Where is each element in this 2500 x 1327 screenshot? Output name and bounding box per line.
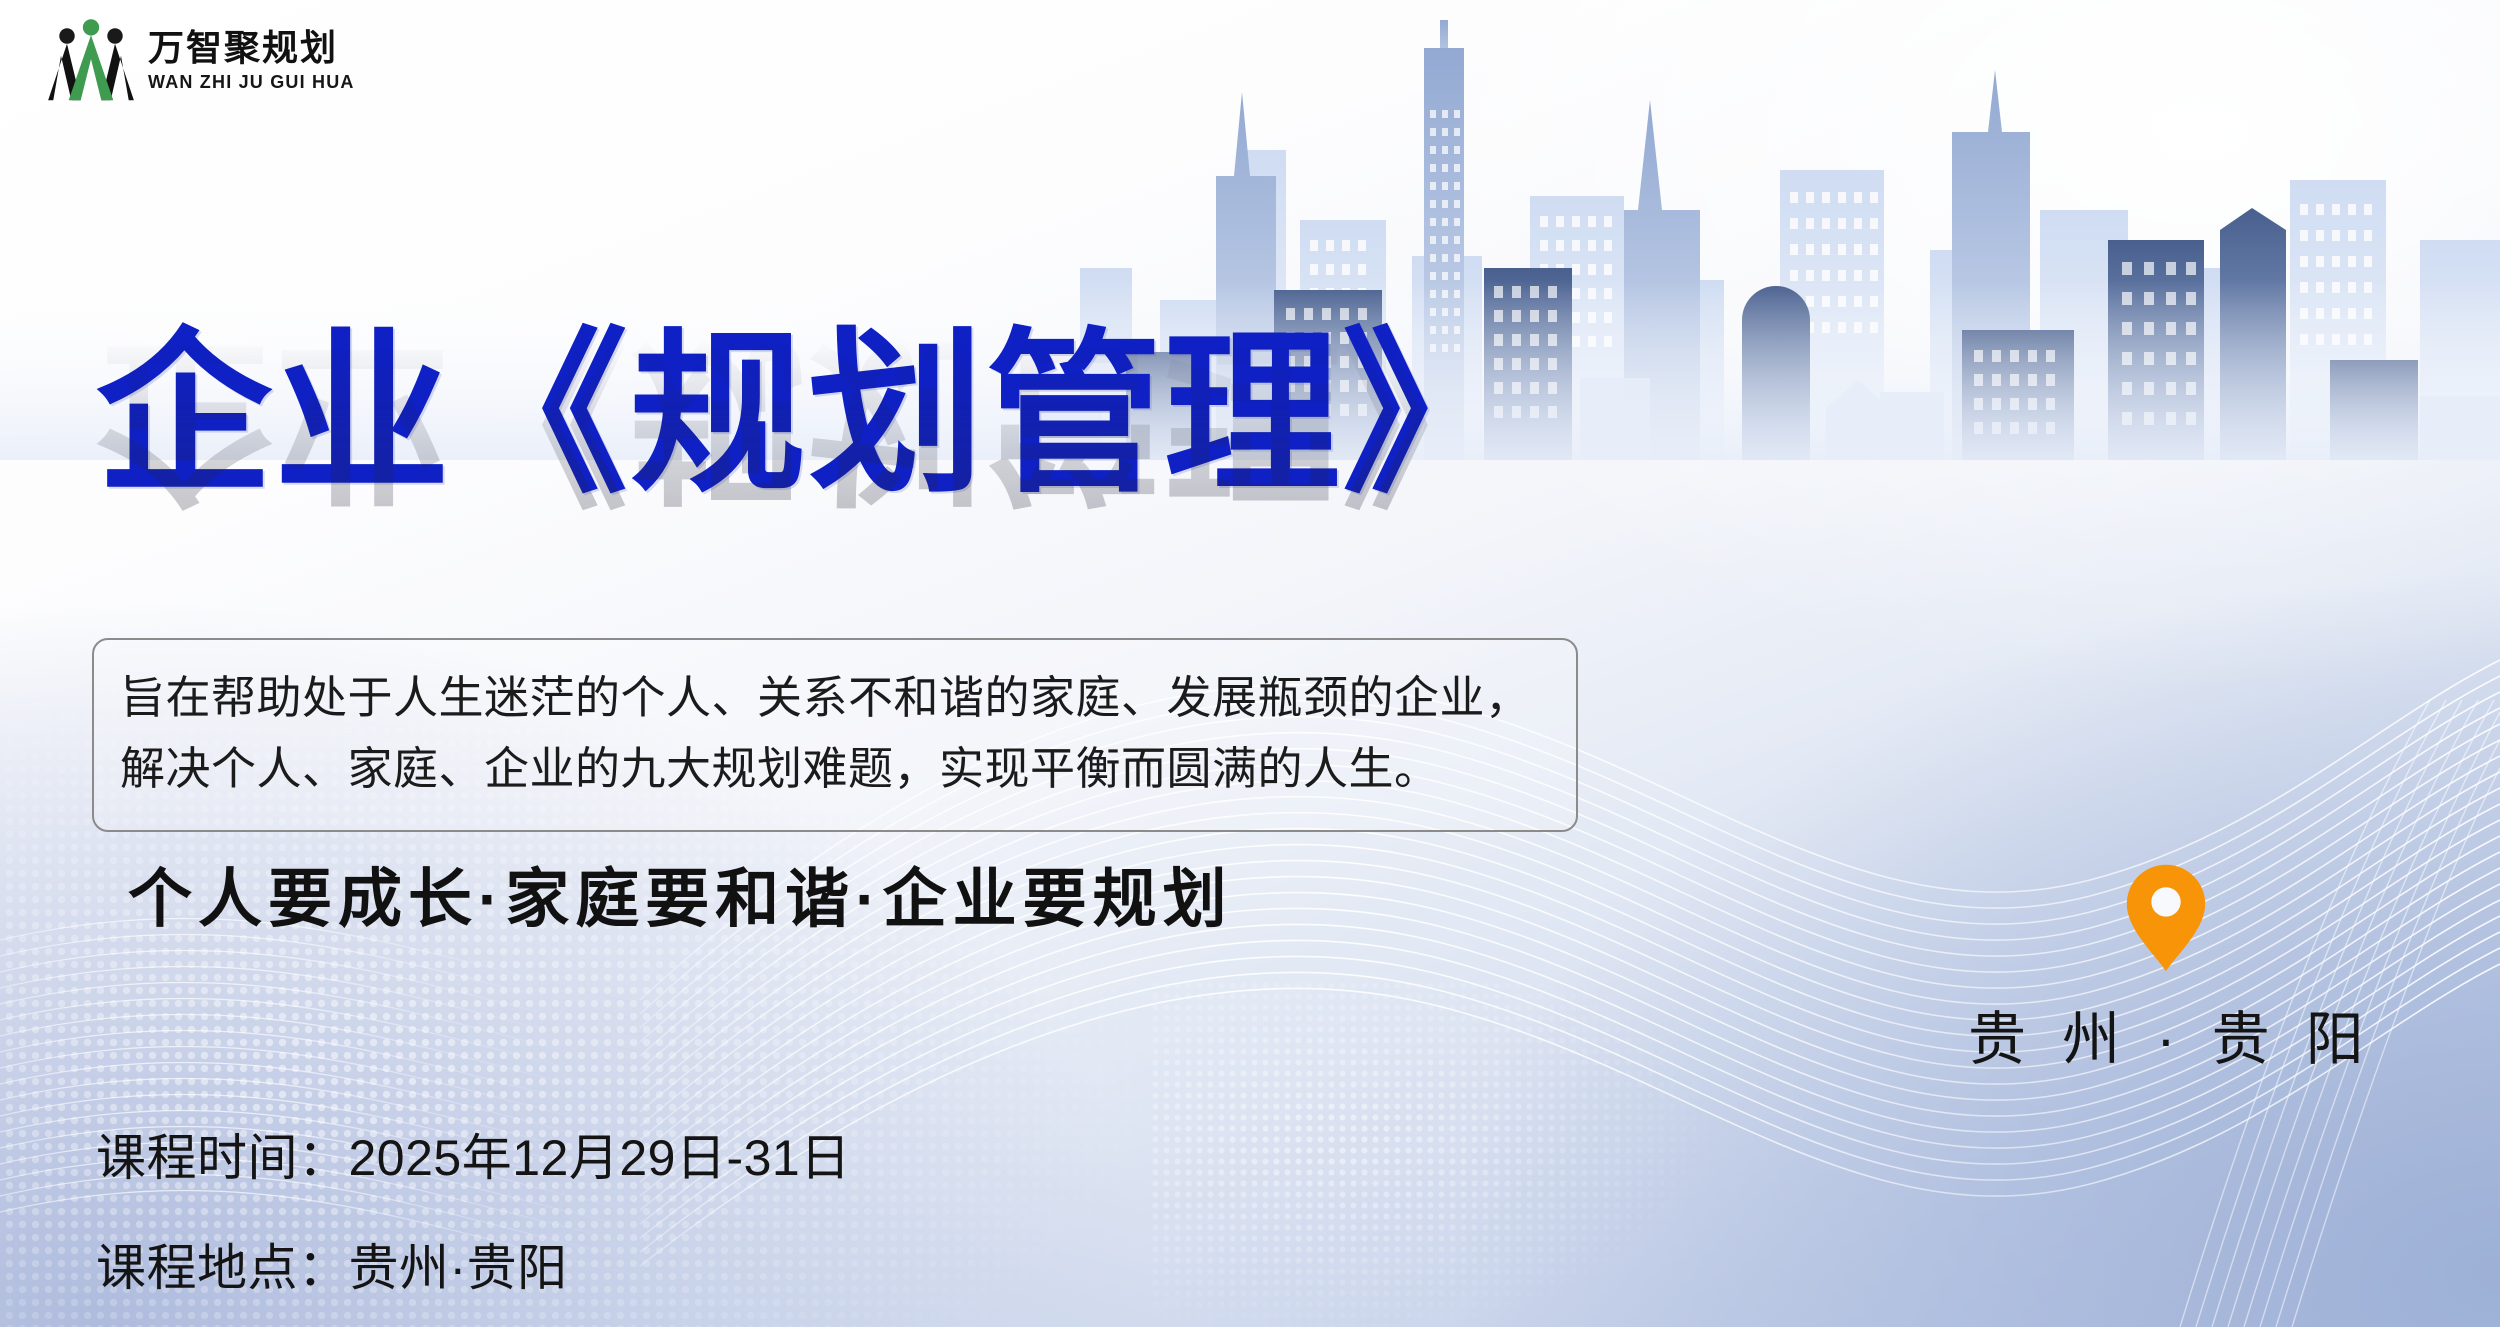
description-line-1: 旨在帮助处于人生迷茫的个人、关系不和谐的家庭、发展瓶颈的企业， — [120, 662, 1550, 733]
location-city-label: 贵 州 · 贵 阳 — [1958, 992, 2374, 1076]
description-line-2: 解决个人、家庭、企业的九大规划难题，实现平衡而圆满的人生。 — [120, 733, 1550, 804]
halftone-dot-field-secondary-icon — [1150, 980, 1950, 1327]
brand-name-pinyin: WAN ZHI JU GUI HUA — [148, 73, 355, 91]
course-date-row: 课程时间：2025年12月29日-31日 — [96, 1118, 851, 1190]
course-place-row: 课程地点：贵州·贵阳 — [96, 1228, 851, 1300]
location-badge: 贵 州 · 贵 阳 — [1958, 862, 2374, 1076]
map-pin-icon — [2124, 862, 2208, 974]
description-box: 旨在帮助处于人生迷茫的个人、关系不和谐的家庭、发展瓶颈的企业， 解决个人、家庭、… — [92, 638, 1578, 832]
course-meta: 课程时间：2025年12月29日-31日 课程地点：贵州·贵阳 — [96, 1118, 851, 1300]
three-people-mark-icon — [48, 18, 134, 102]
poster-canvas: 万智聚规划 WAN ZHI JU GUI HUA 企业《规划管理》 企业《规划管… — [0, 0, 2500, 1327]
brand-logo[interactable]: 万智聚规划 WAN ZHI JU GUI HUA — [48, 18, 355, 102]
hero-tagline: 个人要成长·家庭要和谐·企业要规划 — [128, 848, 1233, 940]
page-title-reflection: 企业《规划管理》 — [96, 324, 1520, 511]
brand-name-cn: 万智聚规划 — [148, 30, 355, 66]
